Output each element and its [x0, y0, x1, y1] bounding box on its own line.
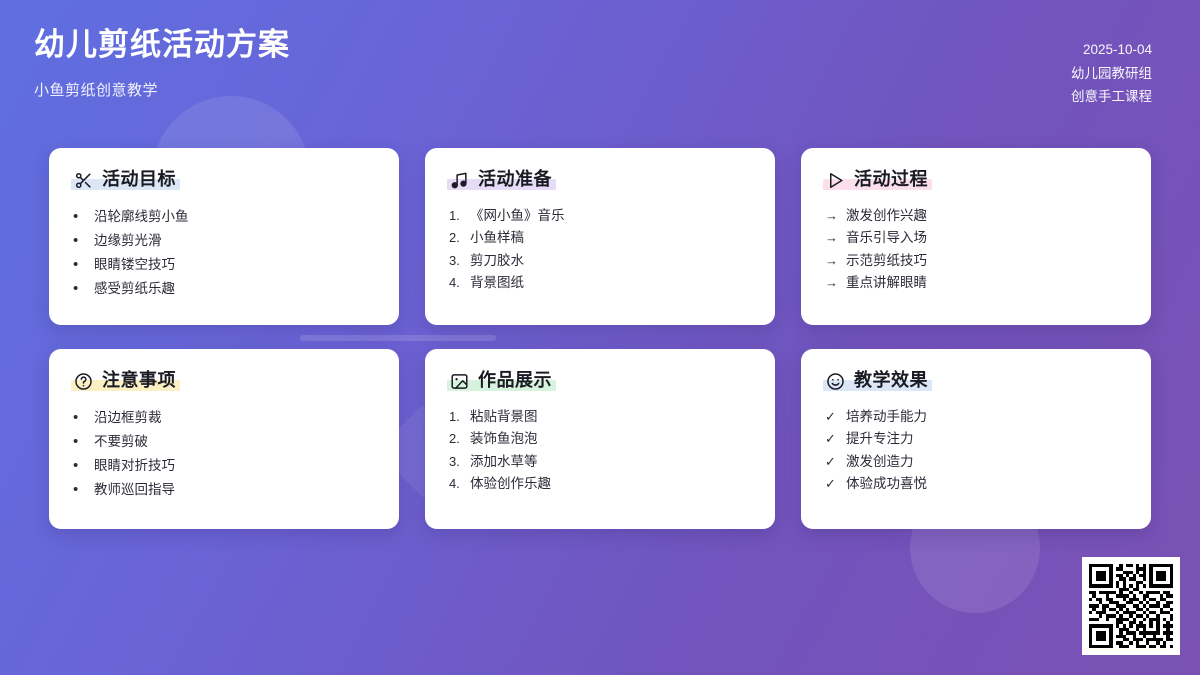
list-item: 3.剪刀胶水: [449, 249, 751, 272]
header-date: 2025-10-04: [1071, 38, 1152, 62]
card-precautions: 注意事项•沿边框剪裁•不要剪破•眼睛对折技巧•教师巡回指导: [49, 349, 399, 529]
list-item-text: 不要剪破: [94, 435, 375, 449]
list-item-text: 重点讲解眼睛: [846, 276, 1127, 290]
list-item-text: 小鱼样稿: [470, 231, 751, 245]
card-list: •沿边框剪裁•不要剪破•眼睛对折技巧•教师巡回指导: [73, 405, 375, 501]
card-activity-goals: 活动目标•沿轮廓线剪小鱼•边缘剪光滑•眼睛镂空技巧•感受剪纸乐趣: [49, 148, 399, 325]
list-item-text: 感受剪纸乐趣: [94, 282, 375, 296]
list-item: 4.背景图纸: [449, 272, 751, 295]
list-marker: 1.: [449, 209, 462, 222]
list-marker: 2.: [449, 432, 462, 445]
list-marker: •: [73, 410, 86, 425]
question-circle-icon: [73, 371, 93, 391]
list-item: 4.体验创作乐趣: [449, 473, 751, 496]
card-header: 教学效果: [825, 371, 928, 391]
slide-root: 幼儿剪纸活动方案 小鱼剪纸创意教学 2025-10-04 幼儿园教研组 创意手工…: [0, 0, 1200, 675]
list-item-text: 激发创作兴趣: [846, 209, 1127, 223]
list-marker: •: [73, 458, 86, 473]
list-item: →音乐引导入场: [825, 227, 1127, 250]
music-note-icon: [449, 170, 469, 190]
list-item-text: 添加水草等: [470, 455, 751, 469]
slide-header: 幼儿剪纸活动方案 小鱼剪纸创意教学 2025-10-04 幼儿园教研组 创意手工…: [0, 0, 1200, 140]
list-marker: •: [73, 281, 86, 296]
list-item-text: 激发创造力: [846, 455, 1127, 469]
header-left: 幼儿剪纸活动方案 小鱼剪纸创意教学: [34, 26, 290, 100]
card-title: 作品展示: [478, 371, 552, 391]
qr-code-panel[interactable]: [1082, 557, 1180, 655]
list-item: →激发创作兴趣: [825, 204, 1127, 227]
list-item: ✓培养动手能力: [825, 405, 1127, 428]
list-marker: →: [825, 231, 838, 244]
card-list: →激发创作兴趣→音乐引导入场→示范剪纸技巧→重点讲解眼睛: [825, 204, 1127, 294]
list-marker: •: [73, 257, 86, 272]
list-item-text: 培养动手能力: [846, 410, 1127, 424]
list-marker: →: [825, 209, 838, 222]
card-header: 活动准备: [449, 170, 552, 190]
list-item-text: 体验创作乐趣: [470, 477, 751, 491]
list-item: •沿边框剪裁: [73, 405, 375, 429]
list-item-text: 眼睛对折技巧: [94, 459, 375, 473]
list-marker: •: [73, 434, 86, 449]
list-marker: •: [73, 482, 86, 497]
qr-module: [1170, 645, 1173, 648]
card-header: 活动过程: [825, 170, 928, 190]
card-teaching-outcome: 教学效果✓培养动手能力✓提升专注力✓激发创造力✓体验成功喜悦: [801, 349, 1151, 529]
scissors-icon: [73, 170, 93, 190]
card-title: 注意事项: [102, 371, 176, 391]
list-marker: •: [73, 209, 86, 224]
smiley-face-icon: [825, 371, 845, 391]
list-item: 1.粘贴背景图: [449, 405, 751, 428]
list-item: •边缘剪光滑: [73, 228, 375, 252]
list-item: →示范剪纸技巧: [825, 249, 1127, 272]
list-item: •眼睛镂空技巧: [73, 252, 375, 276]
list-item-text: 体验成功喜悦: [846, 477, 1127, 491]
list-item-text: 眼睛镂空技巧: [94, 258, 375, 272]
list-item: •教师巡回指导: [73, 477, 375, 501]
card-list: 1.粘贴背景图2.装饰鱼泡泡3.添加水草等4.体验创作乐趣: [449, 405, 751, 495]
card-activity-process: 活动过程→激发创作兴趣→音乐引导入场→示范剪纸技巧→重点讲解眼睛: [801, 148, 1151, 325]
page-subtitle: 小鱼剪纸创意教学: [34, 79, 290, 100]
list-marker: →: [825, 254, 838, 267]
card-header: 活动目标: [73, 170, 176, 190]
image-icon: [449, 371, 469, 391]
card-list: ✓培养动手能力✓提升专注力✓激发创造力✓体验成功喜悦: [825, 405, 1127, 495]
list-marker: 2.: [449, 231, 462, 244]
page-title: 幼儿剪纸活动方案: [34, 26, 290, 65]
list-item: •不要剪破: [73, 429, 375, 453]
list-marker: 3.: [449, 254, 462, 267]
header-org: 幼儿园教研组: [1071, 62, 1152, 86]
list-item-text: 示范剪纸技巧: [846, 254, 1127, 268]
list-item-text: 沿边框剪裁: [94, 411, 375, 425]
list-marker: 3.: [449, 455, 462, 468]
header-course: 创意手工课程: [1071, 85, 1152, 109]
list-item: •眼睛对折技巧: [73, 453, 375, 477]
list-item: ✓提升专注力: [825, 428, 1127, 451]
list-item-text: 《网小鱼》音乐: [470, 209, 751, 223]
list-item: 2.装饰鱼泡泡: [449, 428, 751, 451]
card-activity-preparation: 活动准备1.《网小鱼》音乐2.小鱼样稿3.剪刀胶水4.背景图纸: [425, 148, 775, 325]
list-marker: •: [73, 233, 86, 248]
play-triangle-icon: [825, 170, 845, 190]
list-item-text: 剪刀胶水: [470, 254, 751, 268]
card-list: •沿轮廓线剪小鱼•边缘剪光滑•眼睛镂空技巧•感受剪纸乐趣: [73, 204, 375, 300]
list-item: →重点讲解眼睛: [825, 272, 1127, 295]
list-marker: 1.: [449, 410, 462, 423]
list-item-text: 边缘剪光滑: [94, 234, 375, 248]
card-grid: 活动目标•沿轮廓线剪小鱼•边缘剪光滑•眼睛镂空技巧•感受剪纸乐趣活动准备1.《网…: [49, 148, 1151, 529]
card-list: 1.《网小鱼》音乐2.小鱼样稿3.剪刀胶水4.背景图纸: [449, 204, 751, 294]
list-item-text: 粘贴背景图: [470, 410, 751, 424]
list-item: 3.添加水草等: [449, 450, 751, 473]
card-header: 作品展示: [449, 371, 552, 391]
list-item-text: 教师巡回指导: [94, 483, 375, 497]
card-header: 注意事项: [73, 371, 176, 391]
qr-code: [1089, 564, 1173, 648]
list-item: •沿轮廓线剪小鱼: [73, 204, 375, 228]
list-marker: ✓: [825, 432, 838, 445]
list-item-text: 背景图纸: [470, 276, 751, 290]
list-item: ✓激发创造力: [825, 450, 1127, 473]
card-title: 活动过程: [854, 170, 928, 190]
list-item-text: 提升专注力: [846, 432, 1127, 446]
list-item: ✓体验成功喜悦: [825, 473, 1127, 496]
list-item: 2.小鱼样稿: [449, 227, 751, 250]
list-marker: ✓: [825, 410, 838, 423]
list-marker: 4.: [449, 276, 462, 289]
card-work-showcase: 作品展示1.粘贴背景图2.装饰鱼泡泡3.添加水草等4.体验创作乐趣: [425, 349, 775, 529]
list-marker: ✓: [825, 455, 838, 468]
card-title: 教学效果: [854, 371, 928, 391]
list-item: 1.《网小鱼》音乐: [449, 204, 751, 227]
list-item: •感受剪纸乐趣: [73, 276, 375, 300]
list-marker: ✓: [825, 477, 838, 490]
list-marker: 4.: [449, 477, 462, 490]
list-item-text: 音乐引导入场: [846, 231, 1127, 245]
list-item-text: 沿轮廓线剪小鱼: [94, 210, 375, 224]
header-meta: 2025-10-04 幼儿园教研组 创意手工课程: [1071, 26, 1152, 109]
card-title: 活动准备: [478, 170, 552, 190]
card-title: 活动目标: [102, 170, 176, 190]
list-item-text: 装饰鱼泡泡: [470, 432, 751, 446]
list-marker: →: [825, 276, 838, 289]
